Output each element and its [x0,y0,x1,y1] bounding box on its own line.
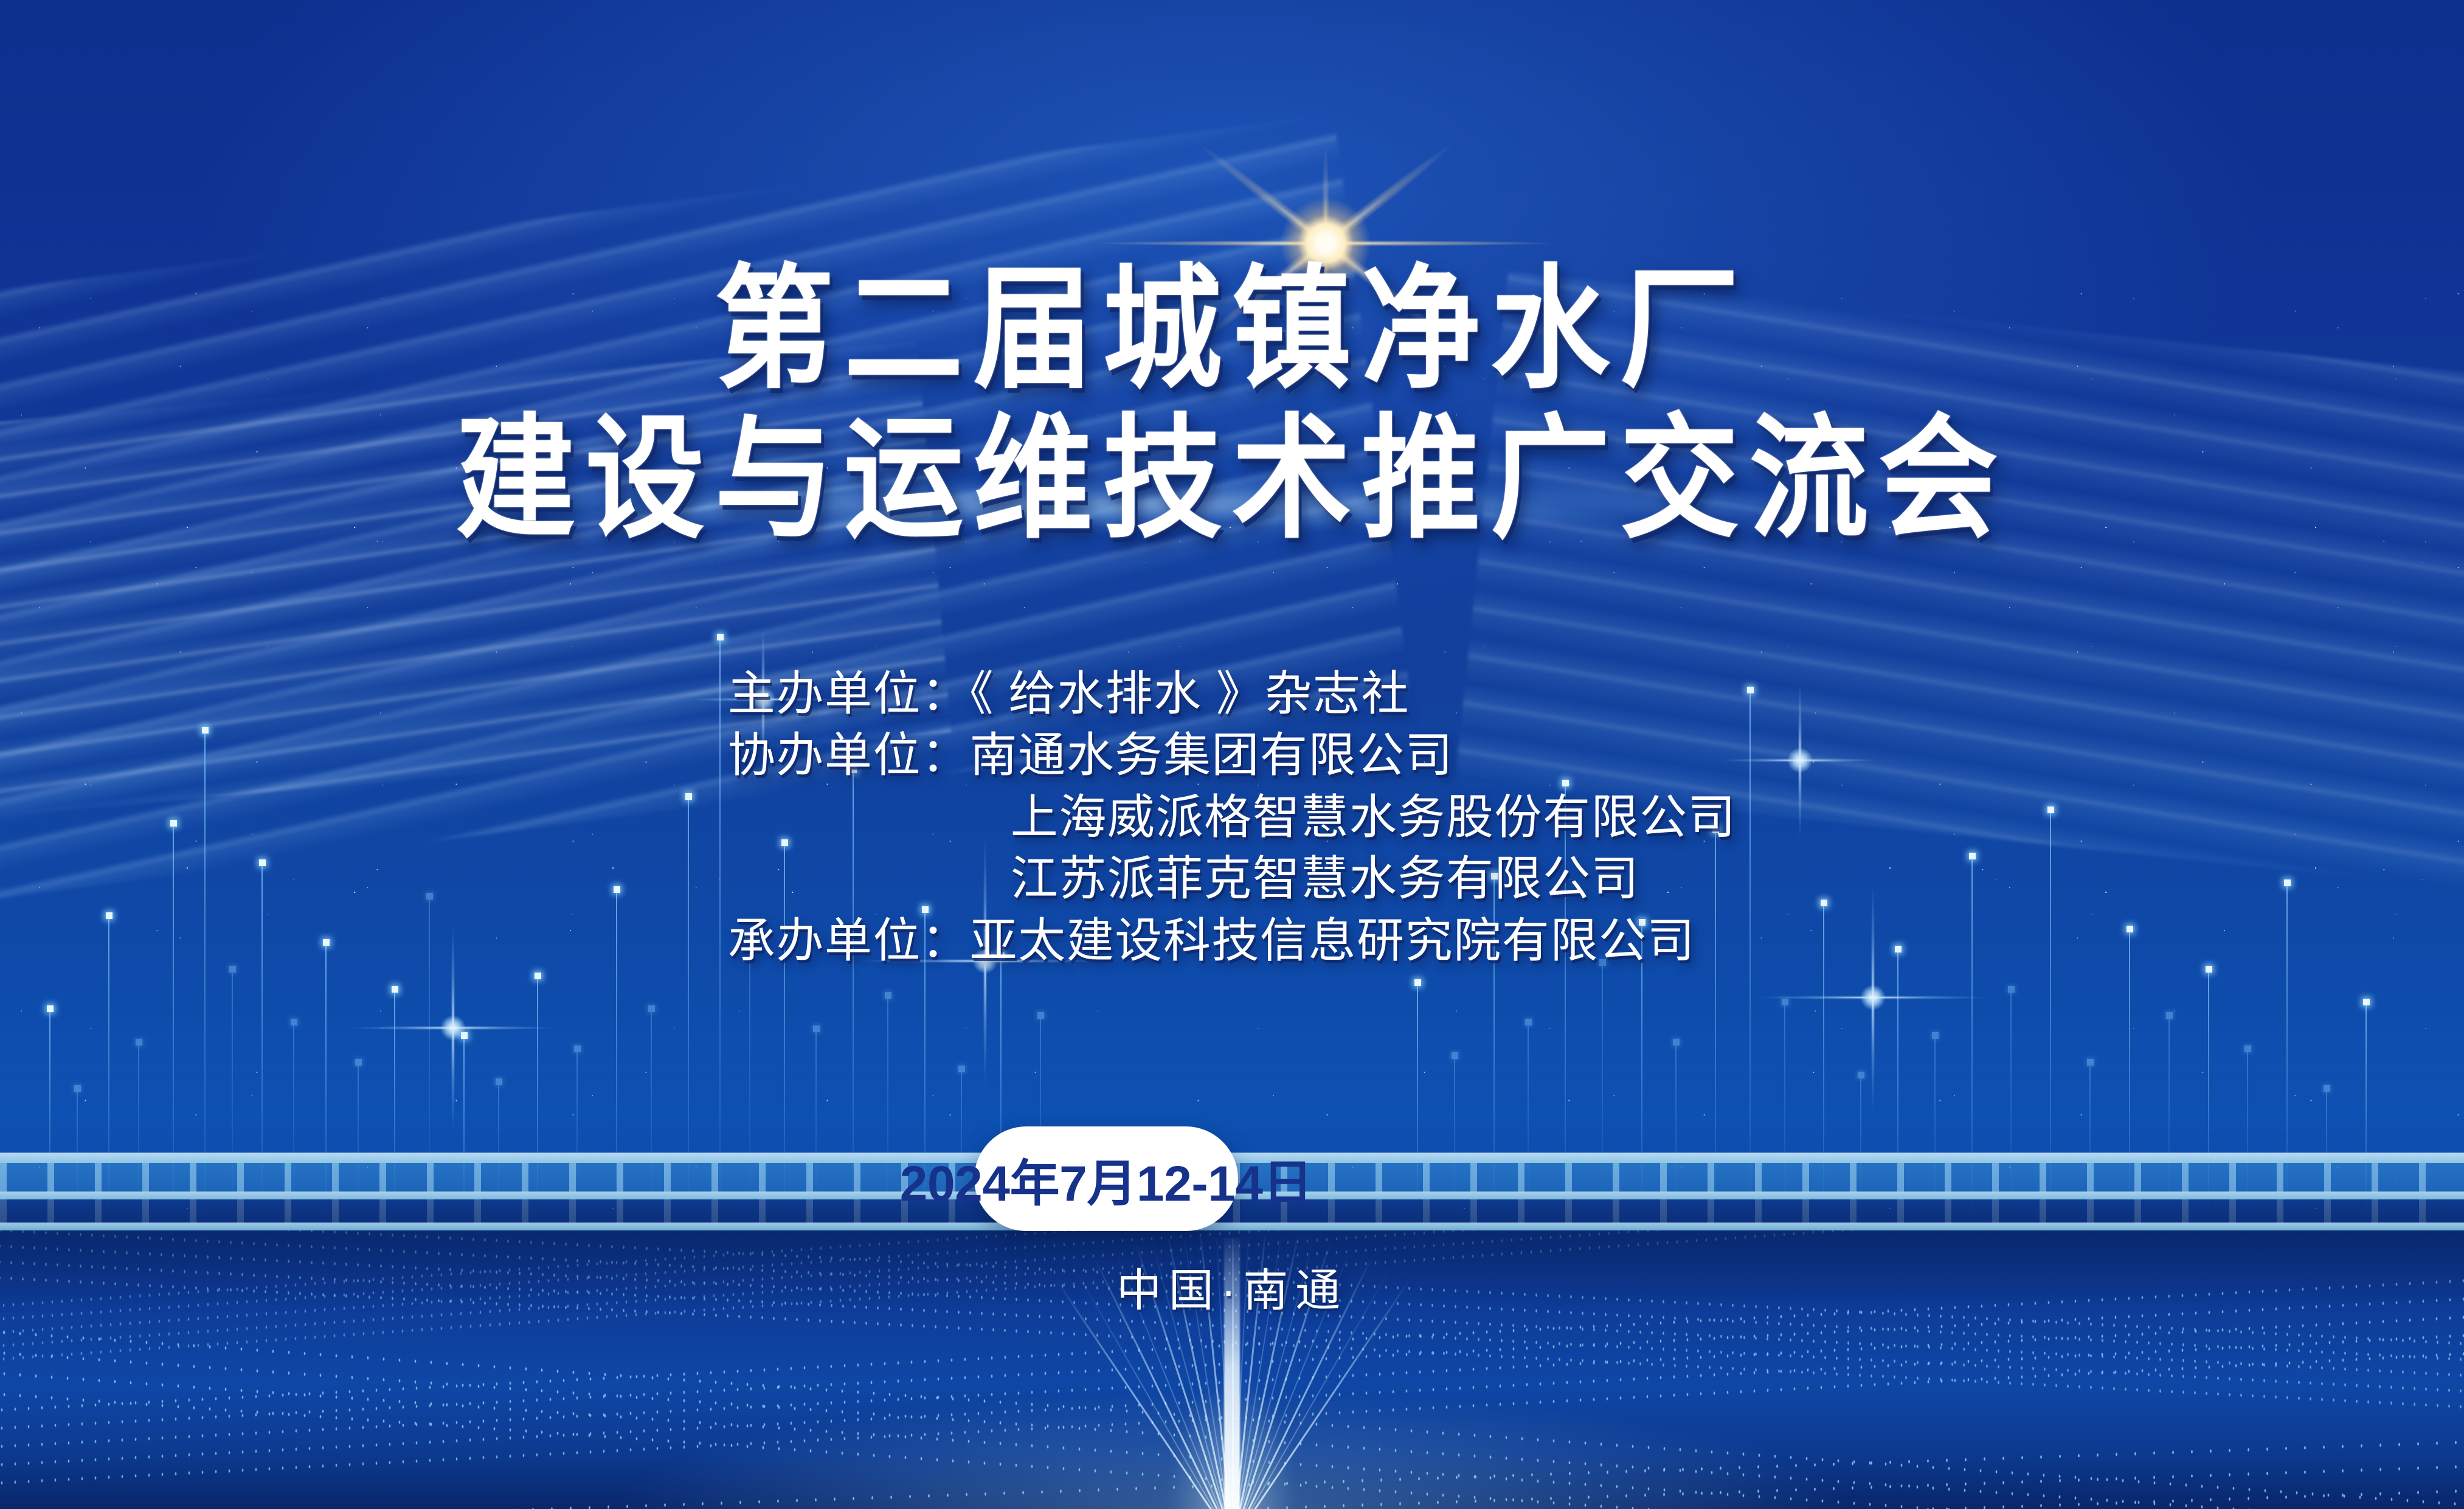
organizers-block: 主办单位：《 给水排水 》杂志社 协办单位：南通水务集团有限公司 上海威派格智慧… [0,663,2464,971]
event-date-text: 2024年7月12-14日 [900,1143,1312,1215]
conference-poster: 第二届城镇净水厂 建设与运维技术推广交流会 主办单位：《 给水排水 》杂志社 协… [0,0,2464,1509]
organizer-name: 亚太建设科技信息研究院有限公司 [970,914,1695,967]
title-line-2: 建设与运维技术推广交流会 [0,410,2464,549]
event-location-text: 中国·南通 [0,1254,2464,1319]
organizer-label: 协办单位： [728,728,970,782]
organizer-row: 江苏派菲克智慧水务有限公司 [728,848,1736,909]
organizer-label: 承办单位： [728,914,970,967]
organizer-name: 南通水务集团有限公司 [970,728,1454,782]
organizer-label: 主办单位： [728,667,970,720]
organizer-row: 主办单位：《 给水排水 》杂志社 [728,663,1736,724]
organizer-row: 协办单位：南通水务集团有限公司 [728,724,1736,786]
page-title: 第二届城镇净水厂 建设与运维技术推广交流会 [0,268,2464,541]
organizer-name: 江苏派菲克智慧水务有限公司 [1011,852,1639,905]
title-line-1: 第二届城镇净水厂 [0,260,2464,399]
event-date-badge: 2024年7月12-14日 [974,1126,1238,1231]
organizer-name: 《 给水排水 》杂志社 [970,667,1410,720]
organizer-row: 上海威派格智慧水务股份有限公司 [728,786,1736,848]
poster-content: 第二届城镇净水厂 建设与运维技术推广交流会 主办单位：《 给水排水 》杂志社 协… [0,0,2464,1509]
organizer-name: 上海威派格智慧水务股份有限公司 [1011,790,1736,844]
organizer-row: 承办单位：亚太建设科技信息研究院有限公司 [728,910,1736,971]
